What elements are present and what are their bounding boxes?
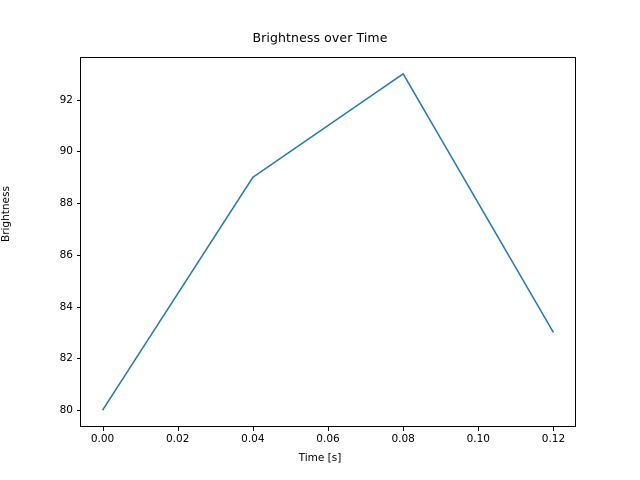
x-tick-label: 0.02 — [166, 433, 189, 445]
y-tick-mark — [77, 358, 81, 359]
x-tick-mark — [328, 427, 329, 431]
data-series-line — [103, 74, 554, 410]
x-tick-label: 0.06 — [316, 433, 339, 445]
chart-title: Brightness over Time — [0, 30, 640, 45]
x-tick-mark — [403, 427, 404, 431]
y-tick-label: 90 — [40, 145, 73, 157]
y-tick-mark — [77, 307, 81, 308]
figure-canvas: Brightness over Time 0.000.020.040.060.0… — [0, 0, 640, 480]
y-tick-label: 84 — [40, 301, 73, 313]
y-tick-label: 80 — [40, 404, 73, 416]
y-tick-mark — [77, 203, 81, 204]
y-tick-mark — [77, 410, 81, 411]
y-tick-mark — [77, 100, 81, 101]
x-tick-label: 0.04 — [241, 433, 264, 445]
x-tick-label: 0.00 — [91, 433, 114, 445]
y-tick-mark — [77, 255, 81, 256]
x-tick-mark — [178, 427, 179, 431]
y-tick-label: 82 — [40, 352, 73, 364]
plot-area — [80, 57, 576, 427]
y-axis-label: Brightness — [0, 186, 12, 242]
x-axis-label: Time [s] — [0, 452, 640, 464]
x-tick-mark — [103, 427, 104, 431]
x-tick-mark — [253, 427, 254, 431]
y-tick-mark — [77, 151, 81, 152]
x-tick-mark — [553, 427, 554, 431]
x-tick-label: 0.10 — [467, 433, 490, 445]
x-tick-label: 0.08 — [391, 433, 414, 445]
x-tick-label: 0.12 — [542, 433, 565, 445]
y-tick-label: 92 — [40, 94, 73, 106]
y-tick-label: 88 — [40, 197, 73, 209]
x-tick-mark — [478, 427, 479, 431]
y-tick-label: 86 — [40, 249, 73, 261]
